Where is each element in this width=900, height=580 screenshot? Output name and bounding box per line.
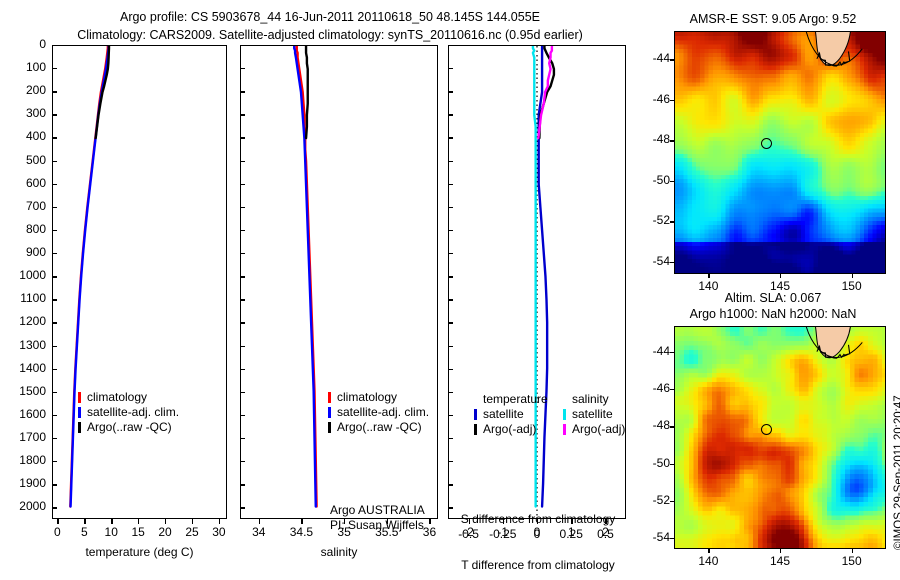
- salinity-plot-area: [241, 46, 437, 518]
- temperature-tick-mark: [192, 519, 193, 524]
- depth-tick-mark: [52, 137, 57, 138]
- depth-tick-mark: [448, 392, 453, 393]
- depth-tick-mark: [240, 207, 245, 208]
- sla-map-canvas: [675, 327, 885, 548]
- depth-tick-label: 1700: [0, 430, 46, 444]
- sst-lat-tick-mark: [670, 262, 675, 263]
- sla-lat-tick-label: -44: [630, 344, 670, 358]
- depth-tick-mark: [52, 91, 57, 92]
- sst-lat-tick-label: -52: [630, 213, 670, 227]
- legend-label: satellite-adj. clim.: [337, 405, 429, 420]
- legend-item: climatology: [328, 390, 429, 405]
- depth-tick-label: 1800: [0, 453, 46, 467]
- depth-tick-mark: [448, 346, 453, 347]
- legend-swatch-sal-argo: [563, 424, 566, 435]
- sla-lon-tick-mark: [780, 548, 781, 553]
- legend-label: Argo(-adj): [483, 422, 536, 437]
- temperature-tick-mark: [138, 519, 139, 524]
- sst-profile-location-marker: [761, 138, 772, 149]
- depth-tick-mark: [448, 415, 453, 416]
- depth-tick-mark: [448, 276, 453, 277]
- depth-tick-label: 1300: [0, 338, 46, 352]
- depth-tick-mark: [448, 207, 453, 208]
- depth-tick-mark: [240, 346, 245, 347]
- legend-item: Argo(-adj): [474, 422, 548, 437]
- depth-tick-mark: [448, 369, 453, 370]
- depth-tick-mark: [448, 161, 453, 162]
- sst-lat-tick-label: -44: [630, 51, 670, 65]
- depth-tick-mark: [52, 322, 57, 323]
- salinity-legend: climatology satellite-adj. clim. Argo(..…: [328, 390, 429, 435]
- legend-swatch-sal-satellite: [563, 409, 566, 420]
- depth-tick-label: 200: [0, 83, 46, 97]
- depth-tick-mark: [448, 253, 453, 254]
- depth-tick-mark: [240, 137, 245, 138]
- legend-item: satellite-adj. clim.: [78, 405, 179, 420]
- sst-lat-tick-label: -48: [630, 132, 670, 146]
- legend-swatch-temp-satellite: [474, 409, 477, 420]
- depth-tick-label: 100: [0, 60, 46, 74]
- temperature-legend: climatology satellite-adj. clim. Argo(..…: [78, 390, 179, 435]
- depth-tick-label: 400: [0, 129, 46, 143]
- depth-tick-mark: [240, 507, 245, 508]
- sst-lat-tick-label: -54: [630, 254, 670, 268]
- depth-tick-mark: [240, 415, 245, 416]
- depth-tick-mark: [240, 369, 245, 370]
- depth-tick-label: 0: [0, 37, 46, 51]
- temperature-tick-mark: [84, 519, 85, 524]
- depth-tick-mark: [448, 461, 453, 462]
- temperature-tick-mark: [111, 519, 112, 524]
- depth-tick-label: 300: [0, 106, 46, 120]
- sla-lat-tick-label: -52: [630, 493, 670, 507]
- depth-tick-mark: [240, 68, 245, 69]
- depth-tick-label: 900: [0, 245, 46, 259]
- legend-label: Argo(-adj): [572, 422, 625, 437]
- depth-tick-label: 1100: [0, 291, 46, 305]
- depth-tick-mark: [448, 68, 453, 69]
- depth-tick-mark: [448, 438, 453, 439]
- difference-legend-salinity: salinity satellite Argo(-adj): [563, 392, 625, 437]
- annotation-line-1: Argo AUSTRALIA: [330, 503, 425, 518]
- depth-tick-mark: [240, 322, 245, 323]
- salinity-profile-panel: [240, 45, 438, 519]
- t-difference-tick-label: 2: [577, 525, 633, 539]
- depth-tick-label: 600: [0, 176, 46, 190]
- legend-item: satellite: [474, 407, 548, 422]
- depth-tick-label: 1900: [0, 476, 46, 490]
- depth-tick-mark: [448, 137, 453, 138]
- legend-label: Argo(..raw -QC): [87, 420, 172, 435]
- sst-lat-tick-mark: [670, 100, 675, 101]
- t-difference-axis-label: T difference from climatology: [443, 558, 633, 572]
- sst-lon-tick-mark: [780, 273, 781, 278]
- sla-lat-tick-label: -46: [630, 381, 670, 395]
- depth-tick-label: 500: [0, 153, 46, 167]
- legend-item: satellite: [563, 407, 625, 422]
- legend-swatch-satellite-adj: [328, 407, 331, 418]
- depth-tick-label: 2000: [0, 499, 46, 513]
- depth-tick-mark: [240, 184, 245, 185]
- legend-swatch-argo: [78, 422, 81, 433]
- legend-group-header: salinity: [563, 392, 625, 407]
- sla-lat-tick-label: -48: [630, 418, 670, 432]
- page-title-line2: Climatology: CARS2009. Satellite-adjuste…: [0, 28, 660, 42]
- salinity-axis-label: salinity: [240, 545, 438, 559]
- depth-tick-mark: [52, 68, 57, 69]
- sst-map-title: AMSR-E SST: 9.05 Argo: 9.52: [660, 12, 886, 26]
- legend-label: satellite: [483, 407, 524, 422]
- sst-lat-tick-mark: [670, 59, 675, 60]
- s-difference-axis-label: S difference from climatology: [443, 512, 633, 526]
- depth-tick-mark: [240, 114, 245, 115]
- depth-tick-mark: [52, 484, 57, 485]
- legend-item: satellite-adj. clim.: [328, 405, 429, 420]
- depth-tick-mark: [52, 45, 57, 46]
- depth-tick-mark: [448, 114, 453, 115]
- sst-lon-tick-mark: [852, 273, 853, 278]
- depth-tick-mark: [240, 161, 245, 162]
- sla-lon-tick-label: 140: [680, 554, 736, 568]
- salinity-tick-mark: [301, 519, 302, 524]
- depth-tick-mark: [240, 299, 245, 300]
- page-title-line1: Argo profile: CS 5903678_44 16-Jun-2011 …: [0, 10, 660, 24]
- legend-header-label: salinity: [572, 392, 609, 407]
- sla-lat-tick-mark: [670, 501, 675, 502]
- depth-tick-mark: [52, 392, 57, 393]
- sla-lat-tick-mark: [670, 426, 675, 427]
- sst-lat-tick-mark: [670, 181, 675, 182]
- depth-tick-mark: [240, 230, 245, 231]
- depth-tick-mark: [240, 45, 245, 46]
- depth-tick-mark: [52, 346, 57, 347]
- temperature-tick-mark: [57, 519, 58, 524]
- difference-legend-temperature: temperature satellite Argo(-adj): [474, 392, 548, 437]
- difference-profile-panel: [448, 45, 626, 519]
- legend-header-label: temperature: [483, 392, 548, 407]
- legend-item: Argo(..raw -QC): [78, 420, 179, 435]
- depth-tick-mark: [52, 253, 57, 254]
- sla-lat-tick-mark: [670, 538, 675, 539]
- temperature-plot-area: [53, 46, 226, 518]
- legend-item: climatology: [78, 390, 179, 405]
- depth-tick-label: 1600: [0, 407, 46, 421]
- depth-tick-label: 800: [0, 222, 46, 236]
- sla-lon-tick-mark: [708, 548, 709, 553]
- depth-tick-mark: [52, 114, 57, 115]
- legend-swatch-climatology: [328, 392, 331, 403]
- depth-tick-label: 1400: [0, 361, 46, 375]
- sla-profile-location-marker: [761, 424, 772, 435]
- depth-tick-mark: [52, 438, 57, 439]
- depth-tick-mark: [448, 484, 453, 485]
- depth-tick-mark: [52, 207, 57, 208]
- legend-group-header: temperature: [474, 392, 548, 407]
- sla-map-title-line2: Argo h1000: NaN h2000: NaN: [650, 307, 896, 321]
- sst-lon-tick-mark: [708, 273, 709, 278]
- legend-spacer: [474, 394, 477, 405]
- sst-map-canvas: [675, 32, 885, 273]
- argo-australia-annotation: Argo AUSTRALIA PI: Susan Wijffels: [330, 503, 425, 533]
- depth-tick-mark: [52, 415, 57, 416]
- temperature-profile-panel: [52, 45, 227, 519]
- depth-tick-mark: [448, 507, 453, 508]
- legend-label: climatology: [87, 390, 147, 405]
- depth-tick-label: 1200: [0, 314, 46, 328]
- depth-tick-mark: [240, 276, 245, 277]
- temperature-tick-mark: [165, 519, 166, 524]
- sla-map-title-line1: Altim. SLA: 0.067: [660, 291, 886, 305]
- depth-tick-mark: [448, 184, 453, 185]
- legend-swatch-argo: [328, 422, 331, 433]
- legend-swatch-temp-argo: [474, 424, 477, 435]
- depth-tick-mark: [52, 161, 57, 162]
- difference-plot-area: [449, 46, 625, 518]
- sst-map: [674, 31, 886, 274]
- depth-tick-mark: [52, 184, 57, 185]
- sla-map: [674, 326, 886, 549]
- depth-tick-mark: [240, 438, 245, 439]
- depth-tick-label: 700: [0, 199, 46, 213]
- legend-label: satellite-adj. clim.: [87, 405, 179, 420]
- legend-item: Argo(..raw -QC): [328, 420, 429, 435]
- sla-lon-tick-mark: [852, 548, 853, 553]
- depth-tick-label: 1500: [0, 384, 46, 398]
- legend-spacer: [563, 394, 566, 405]
- depth-tick-mark: [240, 91, 245, 92]
- sla-lon-tick-label: 150: [824, 554, 880, 568]
- sla-lat-tick-label: -54: [630, 530, 670, 544]
- salinity-tick-mark: [429, 519, 430, 524]
- depth-tick-mark: [52, 369, 57, 370]
- depth-tick-mark: [52, 461, 57, 462]
- depth-tick-mark: [240, 253, 245, 254]
- sla-lat-tick-mark: [670, 352, 675, 353]
- depth-tick-mark: [240, 484, 245, 485]
- depth-tick-mark: [448, 230, 453, 231]
- depth-tick-mark: [52, 299, 57, 300]
- temperature-axis-label: temperature (deg C): [52, 545, 227, 559]
- depth-tick-label: 1000: [0, 268, 46, 282]
- sla-lon-tick-label: 145: [752, 554, 808, 568]
- legend-item: Argo(-adj): [563, 422, 625, 437]
- sla-lat-tick-mark: [670, 464, 675, 465]
- depth-tick-mark: [448, 299, 453, 300]
- sst-lat-tick-label: -46: [630, 92, 670, 106]
- sst-lat-tick-mark: [670, 140, 675, 141]
- sla-lat-tick-mark: [670, 389, 675, 390]
- depth-tick-mark: [240, 461, 245, 462]
- depth-tick-mark: [52, 230, 57, 231]
- depth-tick-mark: [448, 322, 453, 323]
- depth-tick-mark: [240, 392, 245, 393]
- legend-swatch-climatology: [78, 392, 81, 403]
- salinity-tick-mark: [259, 519, 260, 524]
- depth-tick-mark: [448, 91, 453, 92]
- legend-label: Argo(..raw -QC): [337, 420, 422, 435]
- sst-lat-tick-mark: [670, 221, 675, 222]
- depth-tick-mark: [52, 276, 57, 277]
- depth-tick-mark: [448, 45, 453, 46]
- legend-swatch-satellite-adj: [78, 407, 81, 418]
- annotation-line-2: PI: Susan Wijffels: [330, 518, 425, 533]
- temperature-tick-mark: [219, 519, 220, 524]
- depth-tick-mark: [52, 507, 57, 508]
- sla-lat-tick-label: -50: [630, 456, 670, 470]
- imos-credit: ©IMOS 29-Sep-2011 20:20:47: [893, 395, 900, 550]
- legend-label: satellite: [572, 407, 613, 422]
- legend-label: climatology: [337, 390, 397, 405]
- sst-lat-tick-label: -50: [630, 173, 670, 187]
